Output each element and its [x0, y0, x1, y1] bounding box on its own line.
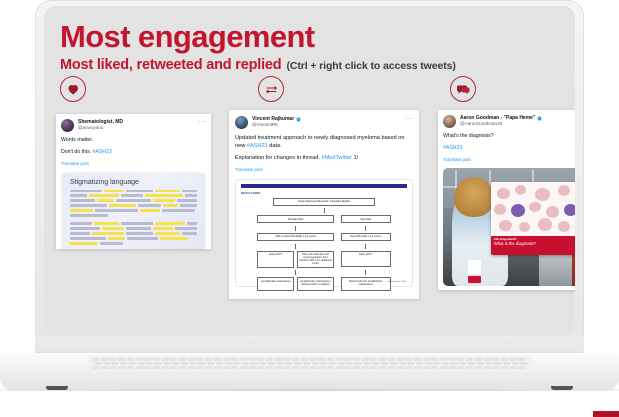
- flowchart-maintenance-row: Lenalidomide maintenance Lenalidomide ma…: [241, 270, 407, 291]
- tweet-line-2-text-a: Explanation for changes in thread.: [235, 155, 321, 161]
- tweet-handle: @VincentRK: [252, 122, 301, 127]
- tweet-line-2-text: Don't do this.: [61, 149, 93, 155]
- tweet-author: Aaron Goodman - "Papa Heme" @AaronGoodma…: [460, 115, 542, 126]
- tweet-media-flowchart[interactable]: MAYO CLINIC Newly Diagnosed Myeloma: Tra…: [235, 179, 413, 287]
- translate-post-link[interactable]: Translate post: [61, 160, 206, 168]
- hashtag-link[interactable]: #ASH23: [93, 149, 112, 155]
- photo-person-hair: [454, 177, 494, 217]
- flow-node-left-step-3b: Lenalidomide maintenance / Delayed ASCT …: [297, 277, 334, 291]
- flow-node-standard-risk: Standard Risk: [257, 215, 333, 223]
- hashtag-link-2[interactable]: #MedTwitter: [321, 155, 351, 161]
- avatar: [61, 119, 74, 132]
- laptop-screen: Most engagement Most liked, retweeted an…: [44, 6, 575, 336]
- page-title: Most engagement: [60, 20, 559, 54]
- more-options-icon[interactable]: ···: [406, 117, 413, 122]
- flow-node-right-step-1: Dara-KRd (Rd) x 3-4 cycles: [341, 233, 391, 241]
- hashtag-link[interactable]: #ASH23: [443, 145, 462, 151]
- tweet-card-1[interactable]: Shematologist, MD @acwoyano ··· Words ma…: [56, 114, 211, 249]
- tweet-body: Words matter. Don't do this. #ASH23 Tran…: [61, 137, 206, 168]
- retweet-icon: [258, 76, 284, 102]
- corner-accent-bar: [593, 411, 619, 417]
- tweet-line-1: What's the diagnosis?: [443, 133, 575, 141]
- tweet-line-2: Explanation for changes in thread. #MedT…: [235, 154, 413, 162]
- tweet-line-1-text-b: data.: [268, 143, 282, 149]
- flow-node-right-step-3: Bortezomib plus lenalidomide maintenance: [341, 277, 391, 291]
- flow-node-left-step-3a: Lenalidomide maintenance: [257, 277, 294, 291]
- laptop-shadow-line: [0, 389, 619, 391]
- poster-band-question: What is the diagnosis?: [494, 241, 575, 246]
- tweet-handle: @acwoyano: [78, 125, 123, 130]
- photo-badge-strip: [468, 276, 482, 283]
- tweet-line-2: Don't do this. #ASH23: [61, 149, 206, 157]
- laptop-keyboard: [88, 356, 531, 370]
- flow-node-high-risk: High Risk: [341, 215, 391, 223]
- flow-node-left-step-2b: Store cell collection and cryopreservati…: [297, 251, 334, 268]
- page-subtitle: Most liked, retweeted and replied: [60, 57, 281, 73]
- slide-image-title: Stigmatizing language: [70, 179, 197, 186]
- tweet-header: Vincent Rajkumar @VincentRK ···: [235, 116, 413, 129]
- engagement-markers: [60, 76, 559, 106]
- tweet-media-photo[interactable]: ASH Image Bank® What is the diagnosis?: [443, 168, 575, 286]
- access-hint: (Ctrl + right click to access tweets): [286, 60, 455, 72]
- tweet-card-2[interactable]: Vincent Rajkumar @VincentRK ··· Updated …: [229, 110, 419, 299]
- verified-badge-icon: [296, 117, 301, 122]
- tweet-header: Aaron Goodman - "Papa Heme" @AaronGoodma…: [443, 115, 575, 128]
- hashtag-link[interactable]: #ASH23: [247, 143, 268, 149]
- heart-icon: [60, 76, 86, 102]
- flowchart-transplant-row: Early ASCT Store cell collection and cry…: [241, 244, 407, 268]
- presentation-slide: Most engagement Most liked, retweeted an…: [44, 6, 575, 336]
- tweet-line-2-text-b: 1/: [352, 155, 358, 161]
- tweet-line-2: #ASH23: [443, 145, 575, 153]
- flowchart-date: Updated Dec 2023: [388, 281, 406, 283]
- mayo-clinic-logo: MAYO CLINIC: [241, 191, 407, 195]
- translate-post-link[interactable]: Translate post: [235, 166, 413, 174]
- verified-badge-icon: [537, 116, 542, 121]
- flowchart-induction-row: VRd or Dara-VRd (DRd) x 3-4 cycles Dara-…: [241, 226, 407, 241]
- tweet-header: Shematologist, MD @acwoyano ···: [61, 119, 206, 132]
- tweet-author: Shematologist, MD @acwoyano: [78, 119, 123, 130]
- flow-node-left-step-2a: Early ASCT: [257, 251, 294, 268]
- stigmatizing-language-slide: Stigmatizing language: [62, 173, 205, 250]
- avatar: [443, 115, 456, 128]
- more-options-icon[interactable]: ···: [199, 120, 206, 125]
- flow-node-title: Newly Diagnosed Myeloma: Transplant Elig…: [273, 198, 376, 206]
- photo-chair: [539, 250, 573, 285]
- tweet-media[interactable]: Stigmatizing language: [61, 172, 206, 250]
- photo-badge: [468, 260, 482, 274]
- flowchart-branch-row: Standard Risk High Risk: [241, 215, 407, 223]
- ash-image-bank-poster: ASH Image Bank® What is the diagnosis?: [491, 182, 575, 255]
- tweet-body: What's the diagnosis? #ASH23 Translate p…: [443, 133, 575, 164]
- tweet-author: Vincent Rajkumar @VincentRK: [252, 116, 301, 127]
- laptop-trackpad: [283, 372, 371, 377]
- avatar: [235, 116, 248, 129]
- laptop-mockup: Most engagement Most liked, retweeted an…: [0, 0, 619, 417]
- tweet-card-3[interactable]: Aaron Goodman - "Papa Heme" @AaronGoodma…: [438, 110, 575, 290]
- subtitle-row: Most liked, retweeted and replied (Ctrl …: [60, 57, 559, 73]
- tweet-handle: @AaronGoodman33: [460, 121, 542, 126]
- flow-node-left-step-1: VRd or Dara-VRd (DRd) x 3-4 cycles: [257, 233, 333, 241]
- flowchart-title-row: Newly Diagnosed Myeloma: Transplant Elig…: [241, 198, 407, 206]
- poster-red-band: ASH Image Bank® What is the diagnosis?: [491, 236, 575, 255]
- tweet-cards: Shematologist, MD @acwoyano ··· Words ma…: [44, 110, 575, 310]
- flow-node-right-step-2: Early ASCT: [341, 251, 391, 267]
- translate-post-link[interactable]: Translate post: [443, 156, 575, 164]
- tweet-line-1: Words matter.: [61, 137, 206, 145]
- reply-icon: [450, 76, 476, 102]
- flowchart-header-bar: [241, 184, 407, 188]
- tweet-line-1: Updated treatment approach to newly diag…: [235, 134, 413, 150]
- tweet-body: Updated treatment approach to newly diag…: [235, 134, 413, 174]
